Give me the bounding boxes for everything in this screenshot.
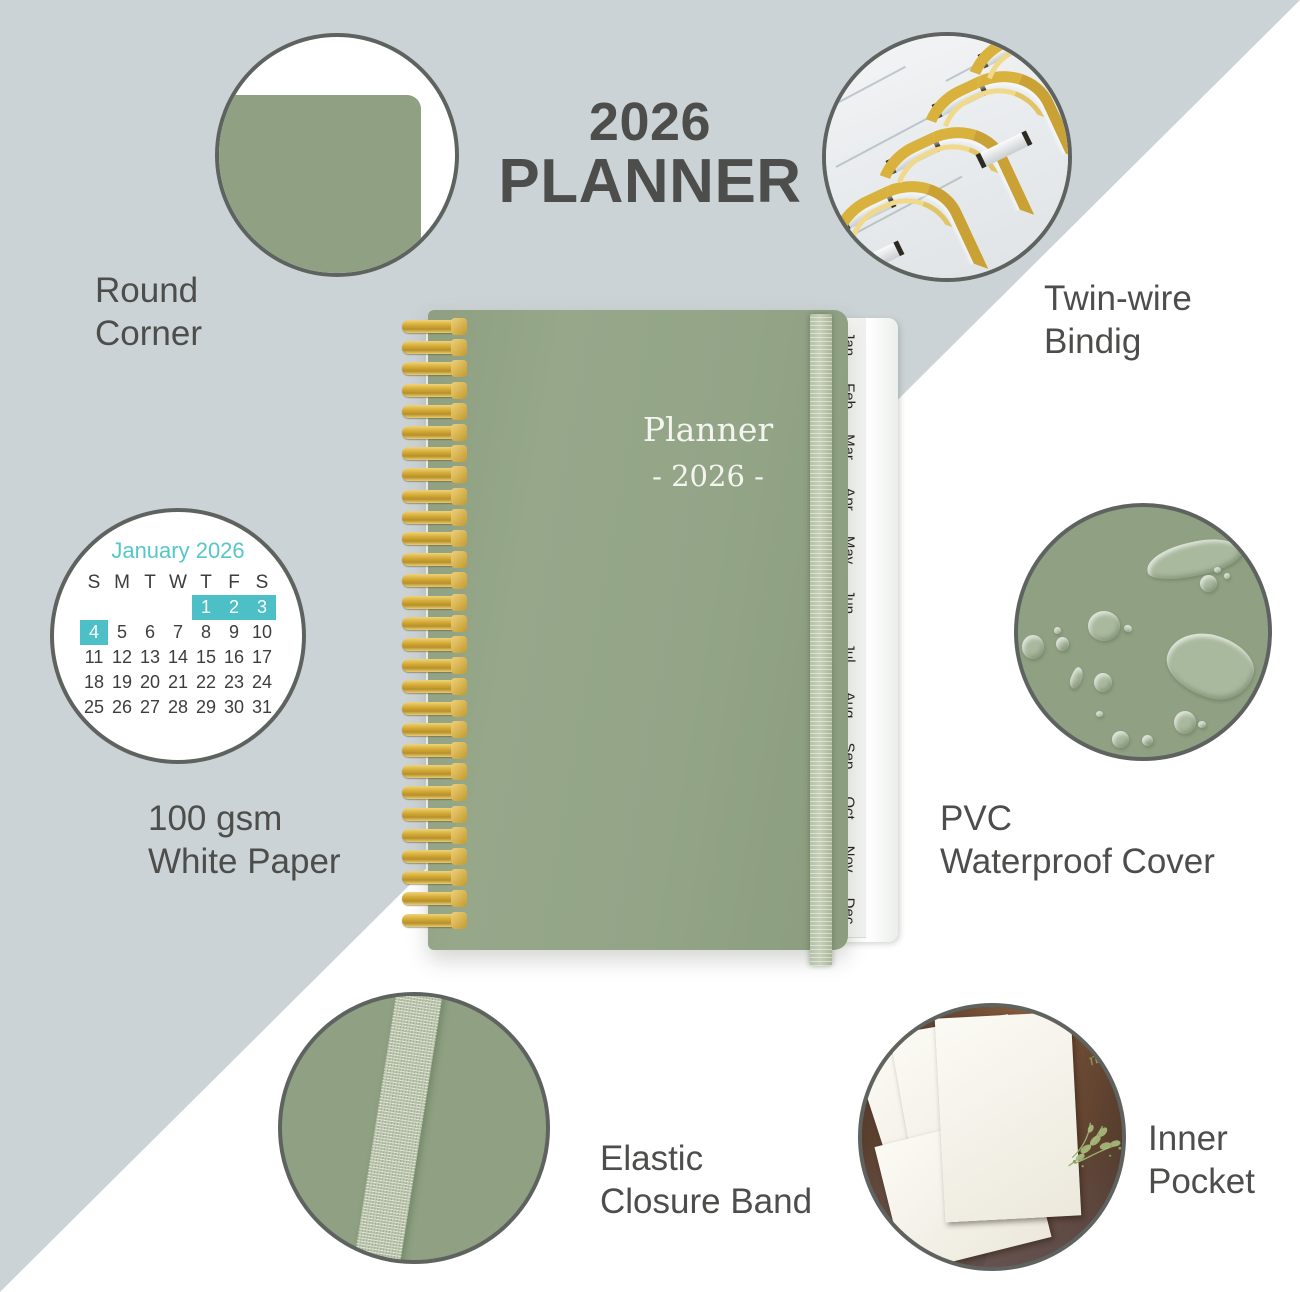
feature-label-pocket: Inner Pocket [1148,1118,1255,1203]
calendar-day-cell: 4 [80,620,108,645]
coil-ring [402,871,464,884]
calendar-table: SMTWTFS123456789101112131415161718192021… [80,570,276,720]
calendar-month-title: January 2026 [54,538,302,564]
calendar-day-cell: 30 [220,695,248,720]
calendar-day-cell: 23 [220,670,248,695]
feature-label-elastic: Elastic Closure Band [600,1138,812,1223]
calendar-day-cell: 6 [136,620,164,645]
water-droplets-icon [1018,507,1268,757]
cover-title-line2: - 2026 - [608,455,808,499]
feature-label-round-corner: Round Corner [95,270,202,355]
coil-ring [402,447,464,460]
coil-ring [402,341,464,354]
coil-ring [402,511,464,524]
calendar-day-cell: 21 [164,670,192,695]
calendar-day-header: T [192,570,220,595]
coil-ring [402,384,464,397]
calendar-day-cell: 20 [136,670,164,695]
calendar-day-cell: 16 [220,645,248,670]
coil-ring [402,723,464,736]
elastic-band-strip-icon [348,992,447,1264]
coil-ring [402,405,464,418]
coil-ring [402,532,464,545]
coil-ring [402,659,464,672]
title-year: 2026 [430,95,870,150]
calendar-day-cell: 2 [220,595,248,620]
feature-image-pvc-waterproof [1014,503,1272,761]
calendar-day-cell: 15 [192,645,220,670]
planner-product-photo: JanFebMarAprMayJunJulAugSepOctNovDec Pla… [400,300,912,960]
calendar-day-cell: 28 [164,695,192,720]
cover-title-line1: Planner [608,405,808,455]
coil-ring [402,765,464,778]
twin-wire-binding-photo-icon [826,36,1068,278]
coil-ring [402,829,464,842]
calendar-day-header: M [108,570,136,595]
coil-ring [402,553,464,566]
calendar-day-header: T [136,570,164,595]
elastic-closure-band-on-cover [810,314,832,966]
coil-ring [402,638,464,651]
calendar-day-cell: 1 [192,595,220,620]
coil-ring [402,744,464,757]
feature-label-paper: 100 gsm White Paper [148,798,341,883]
calendar-day-cell: 27 [136,695,164,720]
calendar-day-header: F [220,570,248,595]
feature-image-inner-pocket: Thank you [858,1003,1126,1271]
feature-label-pvc: PVC Waterproof Cover [940,798,1215,883]
calendar-week-row: 18192021222324 [80,670,276,695]
botanical-sprig-icon [1058,1115,1126,1175]
calendar-day-cell: 7 [164,620,192,645]
calendar-day-cell: 17 [248,645,276,670]
coil-ring [402,808,464,821]
calendar-day-cell: 3 [248,595,276,620]
feature-label-twin-wire: Twin-wire Bindig [1044,278,1192,363]
calendar-day-cell: 29 [192,695,220,720]
calendar-empty-cell [108,595,136,620]
calendar-week-row: 45678910 [80,620,276,645]
planner-front-cover: Planner - 2026 - [428,310,848,950]
calendar-day-cell: 31 [248,695,276,720]
calendar-day-header: S [248,570,276,595]
coil-ring [402,426,464,439]
cover-title: Planner - 2026 - [608,405,808,498]
feature-image-twin-wire [822,32,1072,282]
calendar-day-cell: 26 [108,695,136,720]
product-infographic: 2026 PLANNER Round Corner Twin-wire Bind… [0,0,1300,1292]
calendar-day-cell: 13 [136,645,164,670]
coil-ring [402,702,464,715]
twin-wire-coil [400,320,474,940]
coil-ring [402,914,464,927]
calendar-day-header: S [80,570,108,595]
calendar-day-cell: 24 [248,670,276,695]
rounded-corner-swatch-icon [215,95,421,277]
coil-ring [402,362,464,375]
coil-ring [402,468,464,481]
feature-image-elastic-band [278,992,550,1264]
calendar-empty-cell [80,595,108,620]
calendar-day-cell: 25 [80,695,108,720]
calendar-day-cell: 8 [192,620,220,645]
coil-ring [402,596,464,609]
calendar-day-cell: 19 [108,670,136,695]
coil-ring [402,786,464,799]
calendar-week-row: 25262728293031 [80,695,276,720]
coil-ring [402,680,464,693]
calendar-week-row: 123 [80,595,276,620]
title-word: PLANNER [430,150,870,213]
calendar-header-row: SMTWTFS [80,570,276,595]
calendar-day-cell: 10 [248,620,276,645]
calendar-day-cell: 5 [108,620,136,645]
calendar-day-cell: 12 [108,645,136,670]
feature-image-round-corner [215,33,459,277]
page-title: 2026 PLANNER [430,95,870,213]
coil-ring [402,850,464,863]
coil-ring [402,490,464,503]
calendar-month-grid-icon: January 2026 SMTWTFS12345678910111213141… [54,538,302,720]
calendar-day-cell: 18 [80,670,108,695]
greeting-cards-photo-icon: Thank you [862,1007,1122,1267]
calendar-day-cell: 9 [220,620,248,645]
calendar-day-cell: 14 [164,645,192,670]
coil-ring [402,617,464,630]
feature-image-paper-calendar: January 2026 SMTWTFS12345678910111213141… [50,508,306,764]
calendar-empty-cell [136,595,164,620]
calendar-day-cell: 22 [192,670,220,695]
coil-ring [402,320,464,333]
calendar-day-header: W [164,570,192,595]
calendar-week-row: 11121314151617 [80,645,276,670]
calendar-empty-cell [164,595,192,620]
coil-ring [402,892,464,905]
calendar-day-cell: 11 [80,645,108,670]
coil-ring [402,574,464,587]
